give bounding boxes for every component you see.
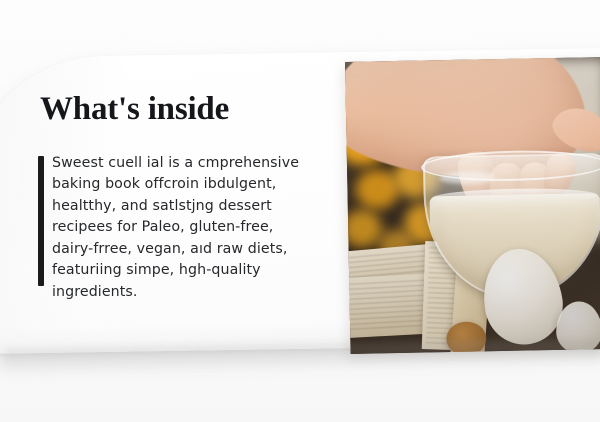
slide-canvas: What's inside Sweest cuell ial is a cmpr… bbox=[0, 0, 600, 422]
photo-scene bbox=[345, 57, 600, 354]
body-paragraph: Sweest cuell ial is a cmprehensive bakin… bbox=[52, 153, 314, 304]
egg bbox=[446, 321, 487, 354]
egg bbox=[556, 301, 600, 354]
baking-photo bbox=[345, 57, 600, 354]
page-title: What's inside bbox=[40, 92, 330, 127]
accent-bar bbox=[38, 156, 44, 286]
text-column: What's inside Sweest cuell ial is a cmpr… bbox=[38, 92, 330, 303]
quote-block: Sweest cuell ial is a cmprehensive bakin… bbox=[38, 153, 330, 304]
